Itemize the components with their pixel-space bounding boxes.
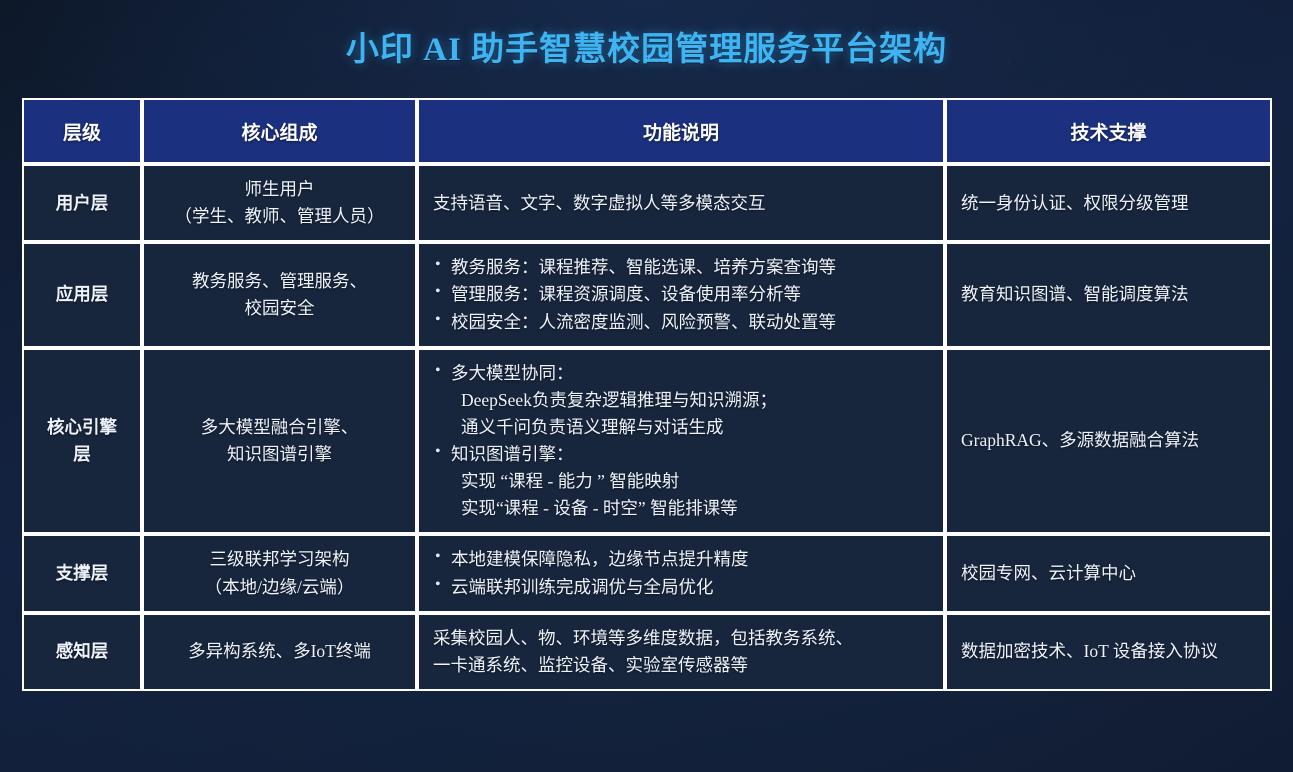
layer-name-cell: 支撑层 xyxy=(22,534,142,612)
core-components-cell: 多大模型融合引擎、知识图谱引擎 xyxy=(142,348,417,535)
tech-support: GraphRAG、多源数据融合算法 xyxy=(961,427,1256,454)
table-body: 用户层师生用户（学生、教师、管理人员）支持语音、文字、数字虚拟人等多模态交互统一… xyxy=(22,164,1272,691)
function-bullet-item: 管理服务：课程资源调度、设备使用率分析等 xyxy=(433,281,929,308)
layer-name: 核心引擎层 xyxy=(38,414,126,468)
table-header: 层级 核心组成 功能说明 技术支撑 xyxy=(22,98,1272,164)
function-text-line: 支持语音、文字、数字虚拟人等多模态交互 xyxy=(433,190,929,217)
layer-name-cell: 核心引擎层 xyxy=(22,348,142,535)
table-row: 用户层师生用户（学生、教师、管理人员）支持语音、文字、数字虚拟人等多模态交互统一… xyxy=(22,164,1272,242)
header-row: 层级 核心组成 功能说明 技术支撑 xyxy=(22,98,1272,164)
function-description-cell: 本地建模保障隐私，边缘节点提升精度云端联邦训练完成调优与全局优化 xyxy=(417,534,945,612)
core-components-line: 多异构系统、多IoT终端 xyxy=(158,638,401,665)
column-header-layer: 层级 xyxy=(22,98,142,164)
function-bullet-item: 本地建模保障隐私，边缘节点提升精度 xyxy=(433,546,929,573)
layer-name-cell: 感知层 xyxy=(22,613,142,691)
function-bullet-subtext: 通义千问负责语义理解与对话生成 xyxy=(451,414,929,441)
function-bullet-list: 教务服务：课程推荐、智能选课、培养方案查询等管理服务：课程资源调度、设备使用率分… xyxy=(433,254,929,335)
function-bullet-subtext: 实现“课程 - 设备 - 时空” 智能排课等 xyxy=(451,495,929,522)
layer-name-line: 层 xyxy=(38,441,126,468)
core-components-line: 教务服务、管理服务、 xyxy=(158,268,401,295)
tech-support-cell: 数据加密技术、IoT 设备接入协议 xyxy=(945,613,1272,691)
page-title: 小印 AI 助手智慧校园管理服务平台架构 xyxy=(0,22,1293,70)
function-description-cell: 多大模型协同：DeepSeek负责复杂逻辑推理与知识溯源；通义千问负责语义理解与… xyxy=(417,348,945,535)
core-components: 教务服务、管理服务、校园安全 xyxy=(158,268,401,322)
core-components-line: （本地/边缘/云端） xyxy=(158,574,401,601)
table-row: 应用层教务服务、管理服务、校园安全教务服务：课程推荐、智能选课、培养方案查询等管… xyxy=(22,242,1272,347)
layer-name-line: 支撑层 xyxy=(38,560,126,587)
core-components-line: 师生用户 xyxy=(158,176,401,203)
function-bullet-item: 云端联邦训练完成调优与全局优化 xyxy=(433,574,929,601)
function-bullet-list: 本地建模保障隐私，边缘节点提升精度云端联邦训练完成调优与全局优化 xyxy=(433,546,929,600)
tech-support-cell: 统一身份认证、权限分级管理 xyxy=(945,164,1272,242)
function-bullet-text: 云端联邦训练完成调优与全局优化 xyxy=(451,577,714,597)
tech-support-line: 统一身份认证、权限分级管理 xyxy=(961,190,1256,217)
tech-support-line: 教育知识图谱、智能调度算法 xyxy=(961,281,1256,308)
core-components: 三级联邦学习架构（本地/边缘/云端） xyxy=(158,546,401,600)
tech-support-cell: 教育知识图谱、智能调度算法 xyxy=(945,242,1272,347)
layer-name: 支撑层 xyxy=(38,560,126,587)
tech-support: 教育知识图谱、智能调度算法 xyxy=(961,281,1256,308)
function-bullet-item: 教务服务：课程推荐、智能选课、培养方案查询等 xyxy=(433,254,929,281)
tech-support: 校园专网、云计算中心 xyxy=(961,560,1256,587)
function-bullet-text: 教务服务：课程推荐、智能选课、培养方案查询等 xyxy=(451,257,836,277)
layer-name: 用户层 xyxy=(38,190,126,217)
core-components: 多异构系统、多IoT终端 xyxy=(158,638,401,665)
core-components-cell: 三级联邦学习架构（本地/边缘/云端） xyxy=(142,534,417,612)
tech-support-cell: 校园专网、云计算中心 xyxy=(945,534,1272,612)
function-bullet-text: 多大模型协同： xyxy=(451,363,574,383)
core-components-line: 知识图谱引擎 xyxy=(158,441,401,468)
layer-name-cell: 用户层 xyxy=(22,164,142,242)
function-bullet-item: 多大模型协同：DeepSeek负责复杂逻辑推理与知识溯源；通义千问负责语义理解与… xyxy=(433,360,929,441)
core-components: 多大模型融合引擎、知识图谱引擎 xyxy=(158,414,401,468)
tech-support: 数据加密技术、IoT 设备接入协议 xyxy=(961,638,1256,665)
core-components: 师生用户（学生、教师、管理人员） xyxy=(158,176,401,230)
function-text-block: 支持语音、文字、数字虚拟人等多模态交互 xyxy=(433,190,929,217)
architecture-table: 层级 核心组成 功能说明 技术支撑 用户层师生用户（学生、教师、管理人员）支持语… xyxy=(22,98,1272,691)
core-components-line: 多大模型融合引擎、 xyxy=(158,414,401,441)
table-row: 支撑层三级联邦学习架构（本地/边缘/云端）本地建模保障隐私，边缘节点提升精度云端… xyxy=(22,534,1272,612)
function-bullet-item: 校园安全：人流密度监测、风险预警、联动处置等 xyxy=(433,309,929,336)
column-header-function: 功能说明 xyxy=(417,98,945,164)
core-components-cell: 师生用户（学生、教师、管理人员） xyxy=(142,164,417,242)
tech-support-cell: GraphRAG、多源数据融合算法 xyxy=(945,348,1272,535)
function-bullet-list: 多大模型协同：DeepSeek负责复杂逻辑推理与知识溯源；通义千问负责语义理解与… xyxy=(433,360,929,523)
tech-support: 统一身份认证、权限分级管理 xyxy=(961,190,1256,217)
architecture-table-container: 层级 核心组成 功能说明 技术支撑 用户层师生用户（学生、教师、管理人员）支持语… xyxy=(22,98,1272,691)
layer-name-line: 核心引擎 xyxy=(38,414,126,441)
tech-support-line: 校园专网、云计算中心 xyxy=(961,560,1256,587)
function-description-cell: 采集校园人、物、环境等多维度数据，包括教务系统、一卡通系统、监控设备、实验室传感… xyxy=(417,613,945,691)
tech-support-line: GraphRAG、多源数据融合算法 xyxy=(961,427,1256,454)
core-components-line: 三级联邦学习架构 xyxy=(158,546,401,573)
function-bullet-text: 校园安全：人流密度监测、风险预警、联动处置等 xyxy=(451,312,836,332)
core-components-line: 校园安全 xyxy=(158,295,401,322)
core-components-cell: 多异构系统、多IoT终端 xyxy=(142,613,417,691)
function-bullet-text: 管理服务：课程资源调度、设备使用率分析等 xyxy=(451,284,801,304)
function-bullet-text: 知识图谱引擎： xyxy=(451,444,574,464)
layer-name: 应用层 xyxy=(38,281,126,308)
table-row: 核心引擎层多大模型融合引擎、知识图谱引擎多大模型协同：DeepSeek负责复杂逻… xyxy=(22,348,1272,535)
function-bullet-subtext: DeepSeek负责复杂逻辑推理与知识溯源； xyxy=(451,387,929,414)
function-description-cell: 支持语音、文字、数字虚拟人等多模态交互 xyxy=(417,164,945,242)
function-text-block: 采集校园人、物、环境等多维度数据，包括教务系统、一卡通系统、监控设备、实验室传感… xyxy=(433,625,929,679)
tech-support-line: 数据加密技术、IoT 设备接入协议 xyxy=(961,638,1256,665)
layer-name-line: 感知层 xyxy=(38,638,126,665)
column-header-tech: 技术支撑 xyxy=(945,98,1272,164)
layer-name-cell: 应用层 xyxy=(22,242,142,347)
function-description-cell: 教务服务：课程推荐、智能选课、培养方案查询等管理服务：课程资源调度、设备使用率分… xyxy=(417,242,945,347)
function-bullet-subtext: 实现 “课程 - 能力 ” 智能映射 xyxy=(451,468,929,495)
function-bullet-text: 本地建模保障隐私，边缘节点提升精度 xyxy=(451,549,749,569)
column-header-core: 核心组成 xyxy=(142,98,417,164)
function-bullet-item: 知识图谱引擎：实现 “课程 - 能力 ” 智能映射实现“课程 - 设备 - 时空… xyxy=(433,441,929,522)
layer-name-line: 用户层 xyxy=(38,190,126,217)
function-text-line: 采集校园人、物、环境等多维度数据，包括教务系统、 xyxy=(433,625,929,652)
core-components-cell: 教务服务、管理服务、校园安全 xyxy=(142,242,417,347)
table-row: 感知层多异构系统、多IoT终端采集校园人、物、环境等多维度数据，包括教务系统、一… xyxy=(22,613,1272,691)
layer-name-line: 应用层 xyxy=(38,281,126,308)
function-text-line: 一卡通系统、监控设备、实验室传感器等 xyxy=(433,652,929,679)
layer-name: 感知层 xyxy=(38,638,126,665)
core-components-line: （学生、教师、管理人员） xyxy=(158,203,401,230)
